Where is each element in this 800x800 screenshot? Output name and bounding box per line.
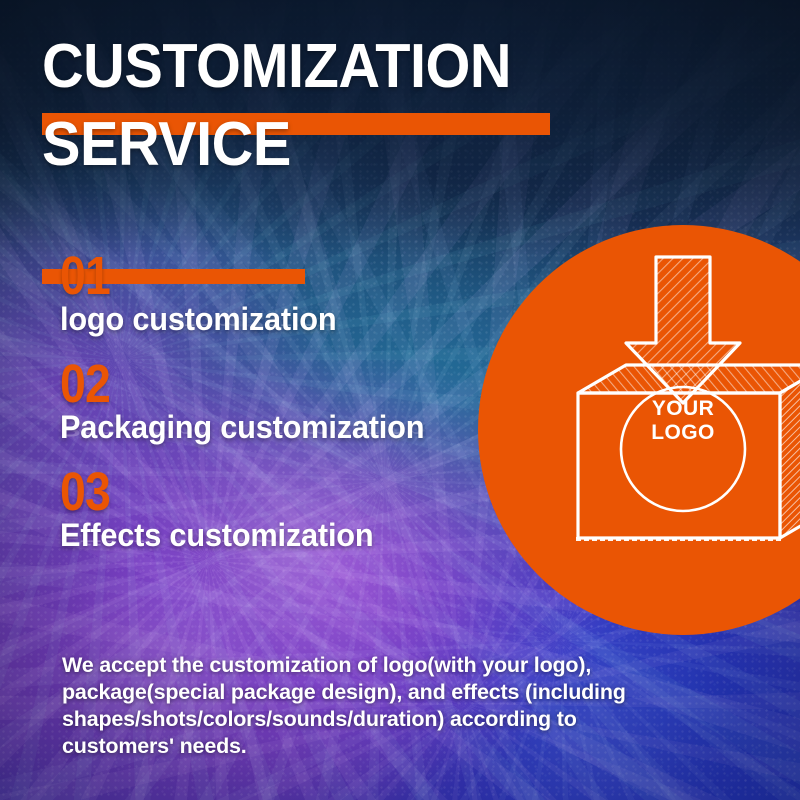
customization-service-poster: CUSTOMIZATION SERVICE 01 logo customizat…	[0, 0, 800, 800]
heading-line-2-wrapper: SERVICE	[42, 114, 546, 176]
poster-heading-block: CUSTOMIZATION SERVICE	[42, 36, 546, 176]
feature-list: 01 logo customization logo customization…	[60, 250, 530, 574]
feature-label-wrapper-01: logo customization logo customization	[60, 302, 530, 336]
heading-line-1-wrapper: CUSTOMIZATION	[42, 36, 546, 98]
feature-label-02: Packaging customization	[60, 410, 511, 444]
feature-label-wrapper-03: Effects customization Effects customizat…	[60, 518, 530, 552]
list-item: 02 Packaging customization Packaging cus…	[60, 358, 530, 444]
page-title-line-1: CUSTOMIZATION	[42, 36, 511, 98]
page-title-line-2: SERVICE	[42, 114, 511, 176]
feature-number-01: 01	[60, 250, 464, 302]
feature-number-02: 02	[60, 358, 464, 410]
feature-label-03: Effects customization	[60, 518, 511, 552]
body-description-text: We accept the customization of logo(with…	[62, 652, 676, 760]
feature-number-03: 03	[60, 466, 464, 518]
feature-label-wrapper-02: Packaging customization Packaging custom…	[60, 410, 530, 444]
list-item: 01 logo customization logo customization	[60, 250, 530, 336]
list-item: 03 Effects customization Effects customi…	[60, 466, 530, 552]
feature-label-01: logo customization	[60, 302, 511, 336]
